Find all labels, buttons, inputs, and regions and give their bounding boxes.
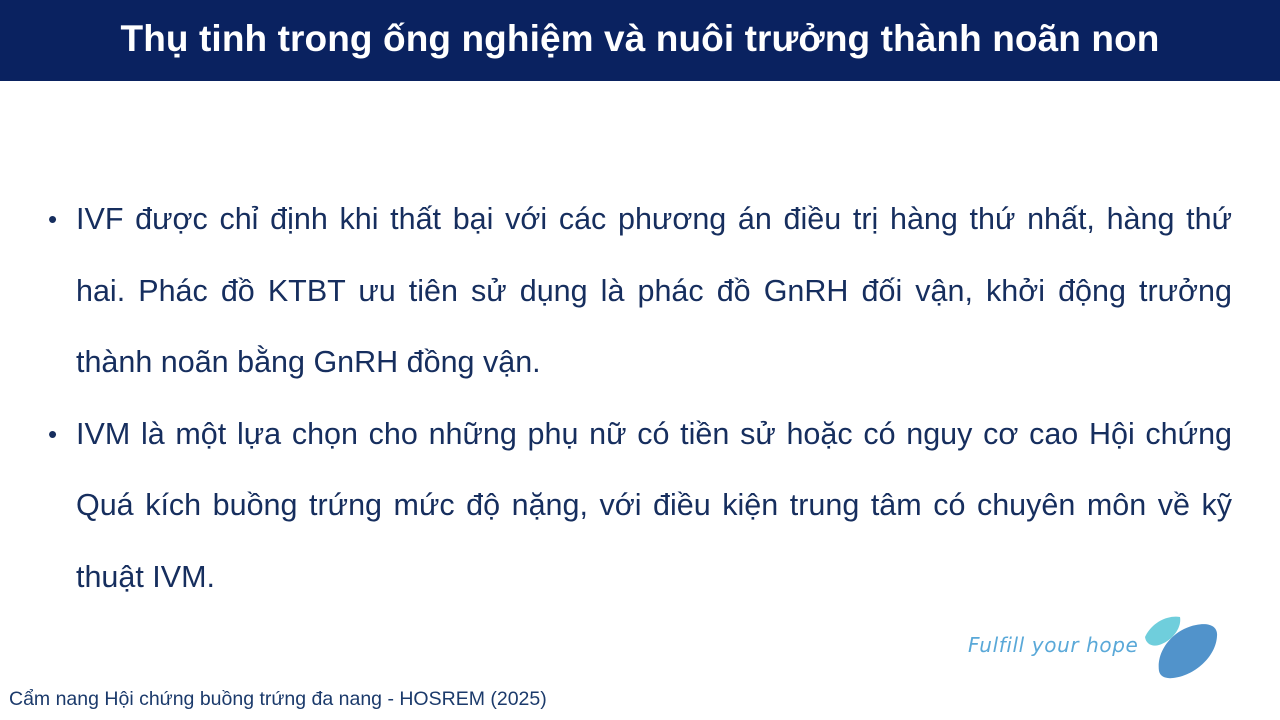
slide-canvas: Thụ tinh trong ống nghiệm và nuôi trưởng… <box>0 0 1280 720</box>
slide-title: Thụ tinh trong ống nghiệm và nuôi trưởng… <box>121 20 1160 62</box>
logo-tagline: Fulfill your hope <box>968 633 1130 657</box>
bullet-text: IVM là một lựa chọn cho những phụ nữ có … <box>76 417 1232 594</box>
brand-logo: Fulfill your hope <box>968 610 1218 688</box>
bullet-list: IVF được chỉ định khi thất bại với các p… <box>48 184 1232 613</box>
two-leaf-logo-icon <box>1132 610 1218 682</box>
bullet-item: IVM là một lựa chọn cho những phụ nữ có … <box>48 399 1232 614</box>
footer-source-note: Cẩm nang Hội chứng buồng trứng đa nang -… <box>9 686 547 712</box>
slide-title-bar: Thụ tinh trong ống nghiệm và nuôi trưởng… <box>0 0 1280 81</box>
bullet-text: IVF được chỉ định khi thất bại với các p… <box>76 202 1232 379</box>
slide-body: IVF được chỉ định khi thất bại với các p… <box>0 81 1280 641</box>
bullet-item: IVF được chỉ định khi thất bại với các p… <box>48 184 1232 399</box>
